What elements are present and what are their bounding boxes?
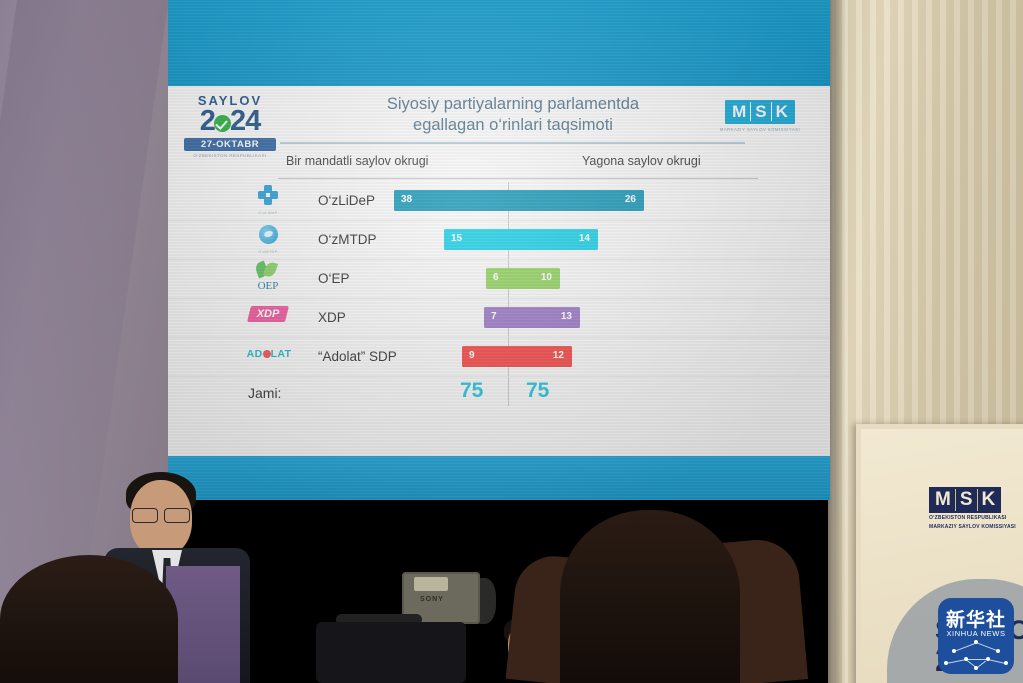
checkmark-icon — [214, 115, 231, 132]
msk-logo-box: MSK — [725, 100, 795, 124]
bar-value-right: 10 — [541, 272, 552, 283]
msk-letter-m: M — [728, 102, 751, 121]
column-header-right: Yagona saylov okrugi — [582, 154, 701, 168]
ozmtdp-mark: O‘zMTDP — [246, 223, 290, 253]
total-right: 75 — [526, 379, 549, 403]
bar-value-right: 14 — [579, 233, 590, 244]
xdp-wordmark-icon: XDP — [247, 306, 289, 322]
msk-logo: MSK MARKAZIY SAYLOV KOMISSIYASI — [716, 100, 804, 132]
table-row: OEP O‘EP 6 10 — [168, 260, 830, 299]
party-name: O‘EP — [318, 271, 350, 286]
wall-shadow — [828, 0, 846, 683]
totals-label: Jami: — [248, 385, 281, 401]
year-first-digit: 2 — [200, 105, 215, 137]
bar-value-left: 7 — [491, 311, 497, 322]
table-row: O‘zMTDP O‘zMTDP 15 14 — [168, 221, 830, 260]
party-name: O‘zMTDP — [318, 232, 377, 247]
glasses-icon — [130, 508, 192, 521]
broadcast-camera: SONY — [316, 570, 486, 683]
xdp-mark: XDP — [246, 301, 290, 331]
msk-letter-k: K — [772, 102, 792, 121]
network-graphic-icon — [944, 640, 1008, 670]
camera-body — [316, 622, 466, 683]
xdp-letters: XDP — [249, 306, 287, 322]
table-row: O‘zLiDeP O‘zLiDeP 38 26 — [168, 182, 830, 221]
presentation-slide: SAYLOV 224 27-OKTABR O'ZBEKISTON RESPUBL… — [168, 86, 830, 456]
party-logo-caption: O‘zMTDP — [246, 249, 290, 254]
party-logo-oep: OEP — [246, 262, 290, 296]
party-name: “Adolat” SDP — [318, 349, 397, 364]
column-headers: Bir mandatli saylov okrugi Yagona saylov… — [168, 148, 830, 182]
ozlidep-mark: O‘zLiDeP — [246, 184, 290, 214]
oep-mark: OEP — [246, 262, 290, 292]
press-conference-photo: SAYLOV 224 27-OKTABR O'ZBEKISTON RESPUBL… — [0, 0, 1023, 683]
adolat-wordmark: ADLAT — [240, 348, 298, 360]
table-row: ADLAT “Adolat” SDP 9 12 — [168, 338, 830, 377]
party-logo-adolat: ADLAT — [246, 340, 290, 374]
slide-header: SAYLOV 224 27-OKTABR O'ZBEKISTON RESPUBL… — [168, 86, 830, 148]
party-logo-caption: O‘zLiDeP — [246, 210, 290, 215]
poster-msk-box: MSK — [929, 487, 1001, 513]
party-logo-xdp: XDP — [246, 301, 290, 335]
party-name: XDP — [318, 310, 346, 325]
year-last-digits: 24 — [230, 105, 260, 137]
totals-row: Jami: 75 75 — [168, 377, 830, 411]
msk-letter-s: S — [751, 102, 771, 121]
bar-oep: 6 10 — [486, 268, 560, 289]
leaves-icon — [256, 262, 280, 278]
bird-circle-icon — [259, 225, 278, 244]
party-logo-ozmtdp: O‘zMTDP — [246, 223, 290, 257]
total-left: 75 — [460, 379, 483, 403]
bar-value-left: 38 — [401, 194, 412, 205]
slide-title-line1: Siyosiy partiyalarning parlamentda — [318, 94, 708, 115]
watermark-chinese-text: 新华社 — [938, 605, 1014, 632]
poster-msk-letter-s: S — [956, 489, 978, 511]
title-underline — [280, 142, 745, 144]
slide-title: Siyosiy partiyalarning parlamentda egall… — [318, 94, 708, 136]
bar-value-left: 9 — [469, 350, 475, 361]
seats-distribution-chart: O‘zLiDeP O‘zLiDeP 38 26 O‘zMTDP — [168, 182, 830, 434]
poster-msk-letter-k: K — [978, 489, 1000, 511]
msk-logo-caption: MARKAZIY SAYLOV KOMISSIYASI — [716, 127, 804, 132]
poster-caption-line1: O‘ZBEKISTON RESPUBLIKASI — [929, 515, 1023, 522]
audience-head-left — [0, 555, 178, 683]
slide-top-band — [168, 0, 830, 86]
watermark-english-text: XINHUA NEWS — [938, 629, 1014, 638]
projection-screen: SAYLOV 224 27-OKTABR O'ZBEKISTON RESPUBL… — [168, 0, 830, 500]
slide-title-line2: egallagan o‘rinlari taqsimoti — [318, 115, 708, 136]
diamond-cluster-icon — [258, 185, 278, 205]
bar-value-left: 6 — [493, 272, 499, 283]
bar-xdp: 7 13 — [484, 307, 580, 328]
party-name: O‘zLiDeP — [318, 193, 375, 208]
camera-brand-label: SONY — [420, 596, 444, 603]
xinhua-news-watermark: 新华社 XINHUA NEWS — [938, 598, 1014, 674]
column-header-underline — [278, 178, 758, 179]
column-header-left: Bir mandatli saylov okrugi — [286, 154, 428, 168]
adolat-dot-icon — [263, 350, 271, 358]
adolat-mark: ADLAT — [246, 340, 290, 370]
bar-value-left: 15 — [451, 233, 462, 244]
bar-value-right: 13 — [561, 311, 572, 322]
bar-adolat: 9 12 — [462, 346, 572, 367]
table-row: XDP XDP 7 13 — [168, 299, 830, 338]
saylov-logo-year: 224 — [184, 107, 276, 136]
foreground-person-head — [560, 510, 740, 683]
poster-caption-line2: MARKAZIY SAYLOV KOMISSIYASI — [929, 524, 1023, 531]
bar-value-right: 26 — [625, 194, 636, 205]
bar-ozmtdp: 15 14 — [444, 229, 598, 250]
bar-value-right: 12 — [553, 350, 564, 361]
poster-msk-letter-m: M — [931, 489, 956, 511]
poster-msk-logo: MSK O‘ZBEKISTON RESPUBLIKASI MARKAZIY SA… — [929, 487, 1023, 531]
slide-bottom-band — [168, 456, 830, 500]
oep-wordmark: OEP — [246, 280, 290, 292]
party-logo-ozlidep: O‘zLiDeP — [246, 184, 290, 218]
bar-ozlidep: 38 26 — [394, 190, 644, 211]
